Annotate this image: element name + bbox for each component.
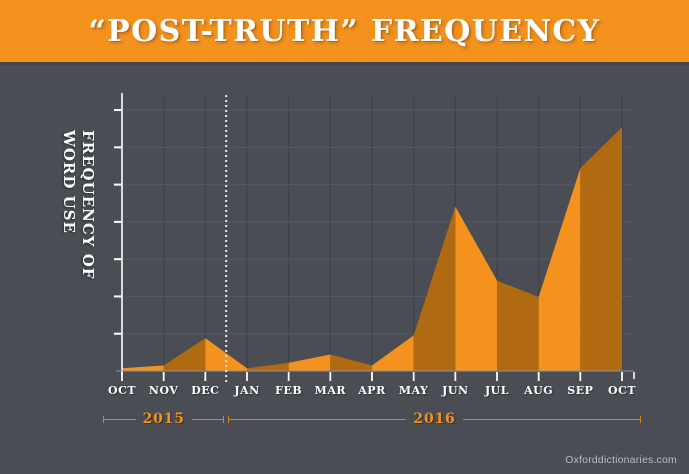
x-axis-year-brackets: 20152016 [0,408,689,430]
year-bracket-rule [104,419,135,420]
x-axis-tick-label: AUG [517,384,561,397]
source-credit: Oxforddictionaries.com [565,454,677,466]
x-axis-tick-label: JUL [475,384,519,397]
x-axis-tick-label: JUN [433,384,477,397]
area-chart-svg [0,0,689,474]
y-axis-ticks [114,110,122,334]
x-axis-tick-label: OCT [600,384,644,397]
infographic-root: “POST-TRUTH” FREQUENCY FREQUENCY OF WORD… [0,0,689,474]
year-label: 2016 [406,411,462,427]
year-bracket-rule [463,419,640,420]
x-axis-month-labels: OCTNOVDECJANFEBMARAPRMAYJUNJULAUGSEPOCT [0,384,689,402]
x-axis-tick-label: APR [350,384,394,397]
x-axis-tick-label: MAY [392,384,436,397]
year-bracket-cap [640,416,641,423]
year-bracket-rule [192,419,223,420]
x-axis-tick-label: FEB [267,384,311,397]
x-axis-tick-label: OCT [100,384,144,397]
chart-plot-area [0,0,689,474]
year-label: 2015 [136,411,192,427]
x-axis-tick-label: DEC [183,384,227,397]
year-bracket: 2016 [228,408,641,430]
year-bracket: 2015 [103,408,224,430]
year-bracket-rule [229,419,406,420]
x-axis-tick-label: NOV [142,384,186,397]
x-axis-tick-label: MAR [308,384,352,397]
x-axis-tick-label: SEP [558,384,602,397]
year-bracket-cap [223,416,224,423]
x-axis-tick-label: JAN [225,384,269,397]
x-axis-ticks [122,372,634,381]
